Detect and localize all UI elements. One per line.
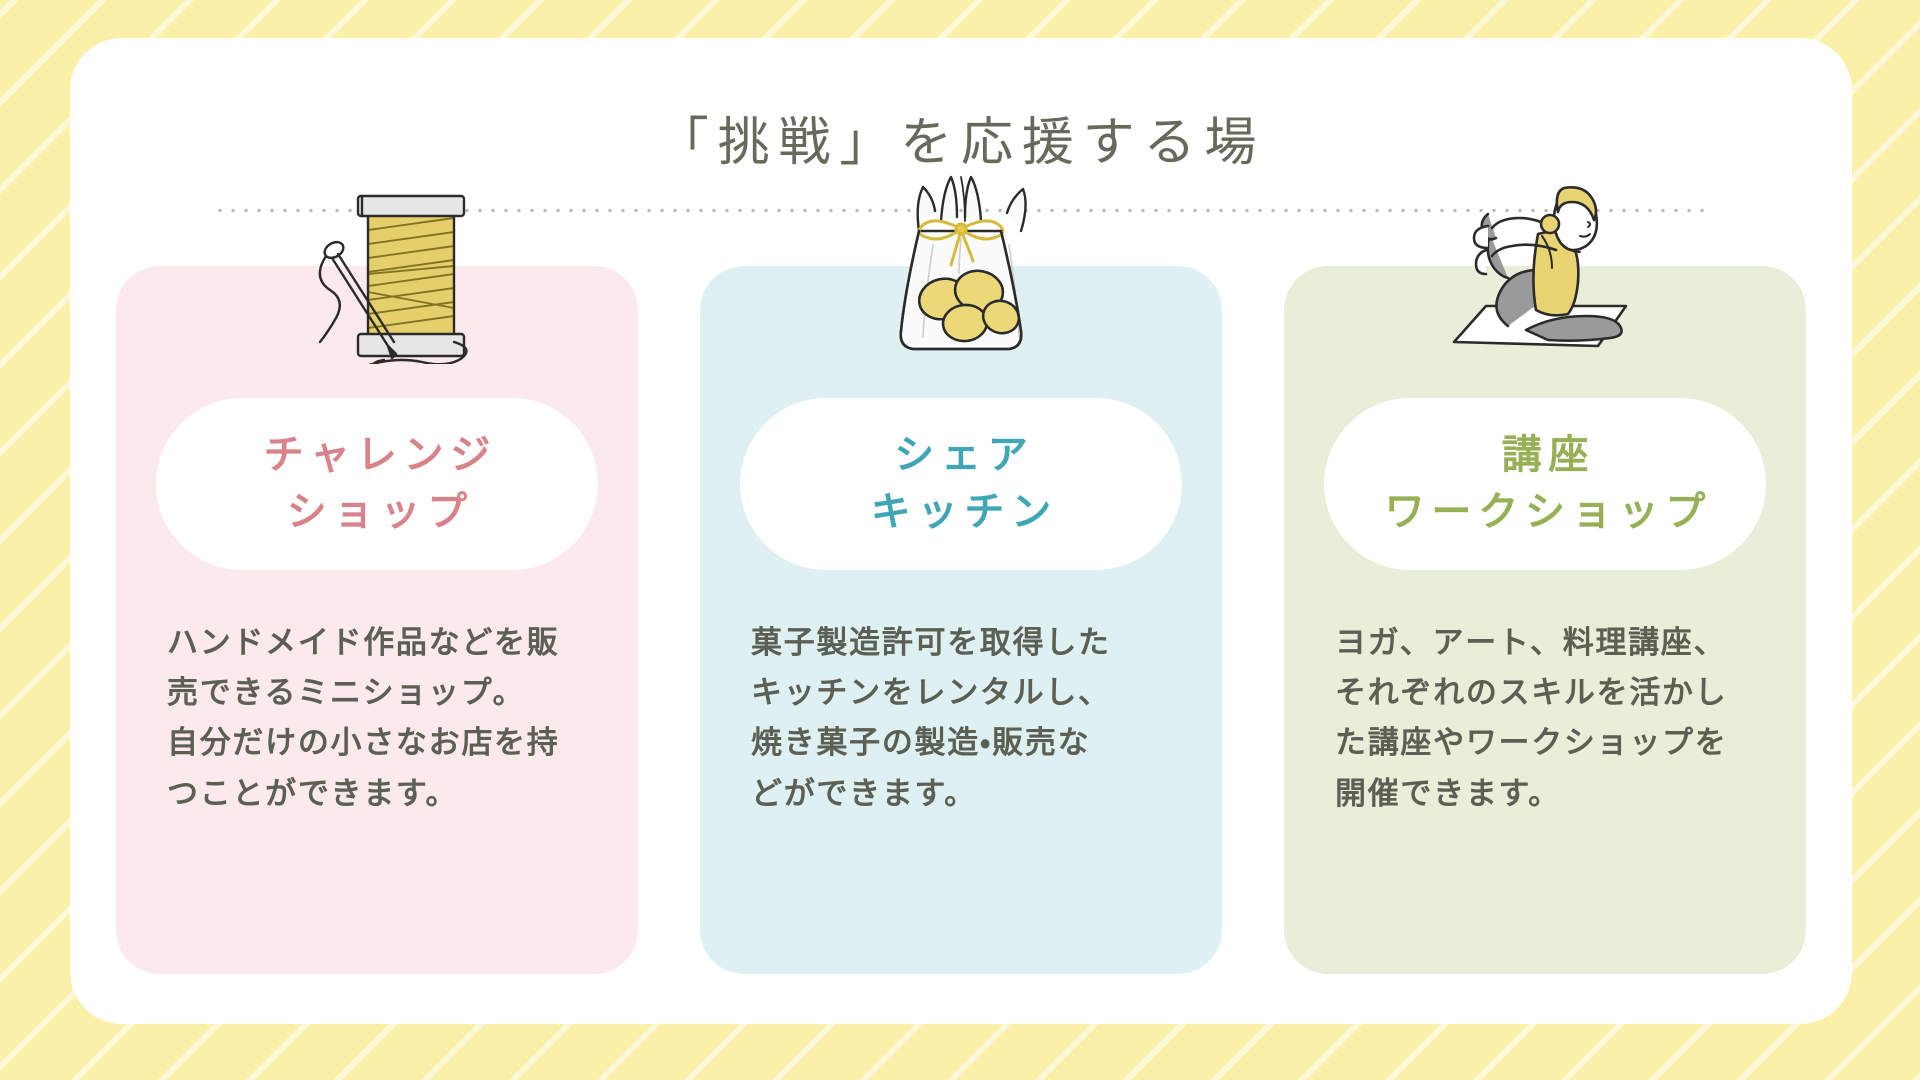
- description-line: どができます。: [751, 769, 1171, 819]
- card-title-line1: 講座: [1495, 430, 1595, 481]
- card-title-line2: ショップ: [280, 487, 474, 538]
- description-line: 売できるミニショップ。: [167, 668, 587, 718]
- card-description: 菓子製造許可を取得した キッチンをレンタルし、 焼き菓子の製造・販売な どができ…: [751, 618, 1171, 819]
- thread-spool-needle-icon: [116, 174, 638, 364]
- description-line: 開催できます。: [1335, 769, 1755, 819]
- description-line: キッチンをレンタルし、: [751, 668, 1171, 718]
- card-title-pill: 講座 ワークショップ: [1324, 398, 1766, 570]
- page-root: 「挑戦」を応援する場: [0, 0, 1920, 1080]
- description-line: 焼き菓子の製造・販売な: [751, 718, 1171, 768]
- description-line: た講座やワークショップを: [1335, 718, 1755, 768]
- card-title-line1: チャレンジ: [257, 430, 497, 481]
- dotted-divider: [210, 208, 1712, 213]
- page-title: 「挑戦」を応援する場: [70, 100, 1852, 175]
- description-line: つことができます。: [167, 769, 587, 819]
- yoga-pose-icon: [1284, 174, 1806, 364]
- card-title-pill: シェア キッチン: [740, 398, 1182, 570]
- description-line: ハンドメイド作品などを販: [167, 618, 587, 668]
- description-line: それぞれのスキルを活かし: [1335, 668, 1755, 718]
- cookie-gift-bag-icon: [700, 174, 1222, 364]
- card-title-line2: ワークショップ: [1378, 487, 1712, 538]
- service-card-share-kitchen[interactable]: シェア キッチン 菓子製造許可を取得した キッチンをレンタルし、 焼き菓子の製造…: [700, 266, 1222, 974]
- service-card-challenge-shop[interactable]: チャレンジ ショップ ハンドメイド作品などを販 売できるミニショップ。 自分だけ…: [116, 266, 638, 974]
- content-panel: 「挑戦」を応援する場: [70, 38, 1852, 1024]
- service-card-list: チャレンジ ショップ ハンドメイド作品などを販 売できるミニショップ。 自分だけ…: [70, 266, 1852, 974]
- service-card-lecture-workshop[interactable]: 講座 ワークショップ ヨガ、アート、料理講座、 それぞれのスキルを活かし た講座…: [1284, 266, 1806, 974]
- card-title-line1: シェア: [887, 430, 1034, 481]
- description-line: 自分だけの小さなお店を持: [167, 718, 587, 768]
- description-line: ヨガ、アート、料理講座、: [1335, 618, 1755, 668]
- description-line: 菓子製造許可を取得した: [751, 618, 1171, 668]
- card-title-pill: チャレンジ ショップ: [156, 398, 598, 570]
- card-description: ヨガ、アート、料理講座、 それぞれのスキルを活かし た講座やワークショップを 開…: [1335, 618, 1755, 819]
- card-title-line2: キッチン: [864, 487, 1058, 538]
- card-description: ハンドメイド作品などを販 売できるミニショップ。 自分だけの小さなお店を持 つこ…: [167, 618, 587, 819]
